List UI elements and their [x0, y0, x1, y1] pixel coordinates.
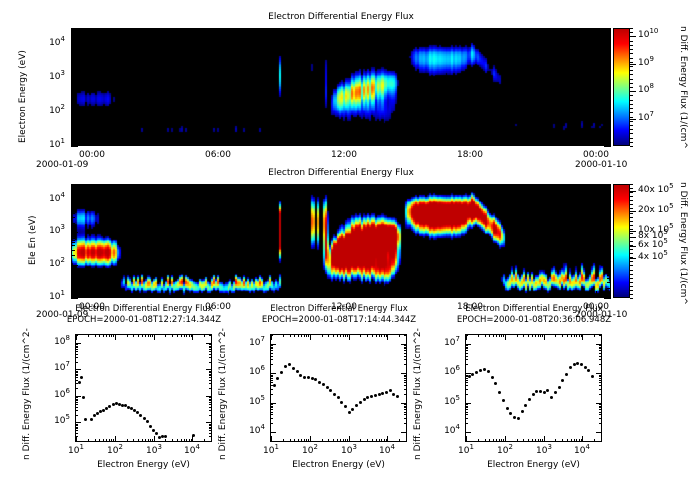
axis-tick [71, 282, 75, 283]
axis-tick [630, 87, 633, 88]
axis-tick [449, 28, 450, 32]
axis-tick [209, 380, 212, 381]
axis-tick [542, 439, 543, 442]
axis-tick [71, 120, 75, 121]
spectrum-y-tick-label: 104 [249, 426, 265, 436]
axis-tick [607, 270, 611, 271]
axis-tick [496, 334, 497, 337]
axis-tick [630, 278, 633, 279]
axis-tick [197, 142, 198, 146]
axis-tick [571, 334, 572, 337]
axis-tick [607, 240, 611, 241]
axis-tick [292, 294, 293, 298]
axis-tick [376, 439, 377, 442]
axis-tick [367, 334, 368, 337]
data-point [539, 390, 542, 393]
axis-tick [113, 334, 114, 337]
axis-tick [345, 439, 346, 442]
axis-tick [404, 389, 407, 390]
axis-tick [306, 439, 307, 442]
axis-tick [599, 353, 602, 354]
data-point [396, 395, 399, 398]
axis-tick [211, 334, 212, 337]
axis-tick [270, 347, 273, 348]
axis-tick [75, 415, 78, 416]
axis-tick [270, 412, 273, 413]
axis-tick [449, 142, 450, 146]
axis-tick [75, 402, 78, 403]
axis-tick [333, 334, 334, 337]
axis-tick [481, 28, 482, 32]
axis-tick [304, 334, 305, 337]
axis-tick [340, 439, 341, 442]
axis-tick [209, 377, 212, 378]
axis-tick [418, 294, 419, 298]
axis-tick [607, 201, 611, 202]
axis-tick [349, 334, 350, 340]
axis-tick [630, 28, 633, 29]
axis-tick [599, 380, 602, 381]
axis-tick [75, 397, 78, 398]
axis-tick [404, 382, 407, 383]
axis-tick [607, 213, 611, 214]
axis-tick [501, 439, 502, 442]
axis-tick [148, 334, 149, 337]
axis-tick [470, 184, 471, 191]
axis-tick [481, 142, 482, 146]
axis-tick [111, 334, 112, 337]
axis-tick [465, 406, 468, 407]
axis-tick [465, 345, 468, 346]
axis-tick [599, 356, 602, 357]
axis-tick [478, 439, 479, 442]
panel2-colorbar-label: n Diff. Energy Flux (1/(cm^ [678, 182, 688, 305]
axis-tick [301, 439, 302, 442]
data-point [333, 393, 336, 396]
spectrum-x-tick-label: 103 [341, 446, 357, 456]
axis-tick [465, 359, 468, 360]
axis-tick [630, 79, 633, 80]
axis-tick [103, 439, 104, 442]
axis-tick [75, 344, 78, 345]
data-point [506, 407, 509, 410]
axis-tick [71, 47, 75, 48]
axis-tick [209, 371, 212, 372]
axis-tick [75, 346, 78, 347]
axis-tick [404, 359, 407, 360]
data-point [561, 379, 564, 382]
axis-tick [103, 142, 104, 146]
axis-tick [499, 334, 500, 337]
axis-tick [71, 78, 78, 79]
axis-tick [607, 272, 611, 273]
axis-tick [465, 380, 468, 381]
spectrum-y-tick-label: 106 [444, 367, 460, 377]
axis-tick [75, 362, 78, 363]
axis-tick [75, 349, 78, 350]
axis-tick [184, 334, 185, 337]
axis-tick [630, 36, 633, 37]
axis-tick [152, 439, 153, 442]
axis-tick [599, 359, 602, 360]
axis-tick [209, 400, 212, 401]
axis-tick [404, 412, 407, 413]
axis-tick [478, 334, 479, 337]
axis-tick [562, 439, 563, 442]
data-point [479, 369, 482, 372]
axis-tick [372, 439, 373, 442]
data-point [307, 376, 310, 379]
axis-tick [599, 348, 602, 349]
axis-tick [209, 433, 212, 434]
colorbar-tick-label: 108 [638, 85, 654, 95]
axis-tick [270, 394, 273, 395]
axis-tick [310, 436, 311, 442]
axis-tick [209, 362, 212, 363]
axis-tick [599, 404, 602, 405]
colorbar-tick-label: 109 [638, 58, 654, 68]
axis-tick [540, 439, 541, 442]
axis-tick [576, 439, 577, 442]
panel1-title: Electron Differential Energy Flux [71, 12, 611, 22]
axis-tick [71, 255, 75, 256]
data-point [483, 368, 486, 371]
data-point [475, 371, 478, 374]
axis-tick [465, 376, 468, 377]
data-point [517, 417, 520, 420]
axis-tick [71, 28, 72, 32]
axis-tick [470, 139, 471, 146]
axis-tick [607, 122, 611, 123]
axis-tick [71, 136, 75, 137]
axis-tick [145, 439, 146, 442]
axis-tick [204, 334, 205, 337]
axis-tick [154, 436, 155, 442]
axis-tick [607, 117, 611, 118]
axis-tick [310, 334, 311, 340]
axis-tick [386, 142, 387, 146]
axis-tick [404, 364, 407, 365]
axis-tick [404, 380, 407, 381]
axis-tick [328, 439, 329, 442]
axis-tick [386, 334, 387, 337]
axis-tick [71, 114, 75, 115]
colorbar-tick-label: 4x 105 [638, 252, 668, 262]
axis-tick [270, 380, 273, 381]
data-point [276, 377, 279, 380]
axis-tick [71, 142, 72, 146]
axis-tick [292, 142, 293, 146]
axis-tick [270, 359, 273, 360]
data-point [392, 393, 395, 396]
spectrum-x-tick-label: 104 [379, 446, 395, 456]
data-point [329, 389, 332, 392]
data-point [355, 404, 358, 407]
axis-tick [607, 278, 611, 279]
axis-tick [576, 334, 577, 337]
axis-tick [607, 120, 611, 121]
axis-tick [596, 139, 597, 146]
axis-tick [575, 184, 576, 188]
axis-tick [372, 334, 373, 337]
axis-tick [148, 439, 149, 442]
axis-tick [485, 334, 486, 337]
axis-tick [71, 54, 75, 55]
axis-tick [76, 436, 77, 442]
axis-tick [209, 410, 212, 411]
axis-tick [505, 436, 506, 442]
data-point [381, 392, 384, 395]
axis-tick [142, 439, 143, 442]
axis-tick [630, 41, 633, 42]
data-point [359, 401, 362, 404]
axis-tick [165, 439, 166, 442]
axis-tick [71, 115, 75, 116]
colorbar-tick-label: 40x 105 [638, 185, 674, 195]
axis-tick [133, 439, 134, 442]
data-point [385, 391, 388, 394]
axis-tick [607, 250, 611, 251]
axis-tick [209, 425, 212, 426]
axis-tick [449, 294, 450, 298]
axis-tick [75, 347, 78, 348]
axis-tick [71, 81, 75, 82]
axis-tick [270, 389, 273, 390]
axis-tick [630, 91, 633, 92]
axis-tick [343, 334, 344, 337]
axis-tick [465, 350, 468, 351]
axis-tick [607, 54, 611, 55]
axis-tick [387, 334, 388, 340]
axis-tick [607, 62, 611, 63]
axis-tick [95, 439, 96, 442]
axis-tick [218, 28, 219, 35]
axis-tick [328, 334, 329, 337]
spectrum-y-tick-label: 105 [249, 397, 265, 407]
axis-tick [607, 52, 611, 53]
axis-tick [218, 291, 219, 298]
axis-tick [630, 112, 633, 113]
data-point [491, 376, 494, 379]
panel2-title: Electron Differential Energy Flux [71, 168, 611, 178]
axis-tick [308, 439, 309, 442]
axis-tick [209, 399, 212, 400]
axis-tick [71, 62, 75, 63]
axis-tick [630, 83, 633, 84]
axis-tick [270, 345, 273, 346]
axis-tick [449, 184, 450, 188]
y-tick-label: 102 [49, 259, 65, 269]
axis-tick [270, 382, 273, 383]
data-point [521, 410, 524, 413]
axis-tick [355, 294, 356, 298]
axis-tick [404, 394, 407, 395]
axis-tick [512, 28, 513, 32]
axis-tick [270, 353, 273, 354]
spectrum-y-tick-label: 108 [54, 337, 70, 347]
axis-tick [386, 184, 387, 188]
spectrum-ylabel: n Diff. Energy Flux (1/(cm^2- [22, 328, 32, 460]
axis-tick [630, 188, 633, 189]
axis-tick [192, 334, 193, 340]
axis-tick [465, 418, 468, 419]
data-point [314, 378, 317, 381]
axis-tick [607, 294, 608, 298]
axis-tick [630, 142, 633, 143]
axis-tick [607, 49, 611, 50]
axis-tick [270, 432, 276, 433]
axis-tick [630, 58, 633, 59]
axis-tick [596, 432, 602, 433]
axis-tick [209, 375, 212, 376]
axis-tick [465, 423, 468, 424]
axis-tick [294, 334, 295, 337]
axis-tick [607, 288, 611, 289]
axis-tick [75, 404, 78, 405]
axis-tick [75, 369, 81, 370]
axis-tick [582, 334, 583, 340]
y-tick-label: 101 [49, 292, 65, 302]
axis-tick [209, 428, 212, 429]
y-tick-label: 104 [49, 194, 65, 204]
spectrum-y-tick-label: 107 [444, 338, 460, 348]
axis-tick [596, 373, 602, 374]
axis-tick [134, 28, 135, 32]
axis-tick [344, 291, 345, 298]
axis-tick [604, 112, 611, 113]
axis-tick [111, 439, 112, 442]
axis-tick [71, 275, 75, 276]
colorbar-tick-label: 107 [638, 113, 654, 123]
axis-tick [596, 28, 597, 35]
axis-tick [294, 439, 295, 442]
axis-tick [92, 184, 93, 191]
axis-tick [71, 203, 75, 204]
axis-tick [209, 415, 212, 416]
axis-tick [630, 265, 633, 266]
axis-tick [599, 423, 602, 424]
data-point [340, 401, 343, 404]
data-point [143, 417, 146, 420]
axis-tick [71, 288, 75, 289]
axis-tick [71, 240, 75, 241]
y-tick-label: 101 [49, 140, 65, 150]
y-tick-label: 103 [49, 72, 65, 82]
axis-tick [404, 356, 407, 357]
axis-tick [399, 334, 400, 337]
axis-tick [523, 439, 524, 442]
axis-tick [270, 414, 273, 415]
axis-tick [604, 232, 611, 233]
colorbar-tick-label: 20x 105 [638, 205, 674, 215]
axis-tick [75, 388, 78, 389]
data-point [84, 418, 87, 421]
axis-tick [113, 439, 114, 442]
axis-tick [166, 28, 167, 32]
axis-tick [596, 184, 597, 191]
data-point [363, 398, 366, 401]
axis-tick [404, 376, 407, 377]
data-point [468, 375, 471, 378]
axis-tick [465, 382, 468, 383]
axis-tick [304, 439, 305, 442]
axis-tick [544, 28, 545, 32]
axis-tick [88, 334, 89, 337]
axis-tick [599, 375, 602, 376]
axis-tick [355, 142, 356, 146]
axis-tick [71, 58, 75, 59]
panel2-ylabel: Ele En (eV) [28, 215, 38, 265]
axis-tick [75, 380, 78, 381]
axis-tick [599, 418, 602, 419]
axis-tick [574, 334, 575, 337]
axis-tick [75, 371, 78, 372]
axis-tick [71, 130, 75, 131]
axis-tick [71, 205, 75, 206]
axis-tick [607, 203, 611, 204]
axis-tick [599, 407, 602, 408]
axis-tick [379, 439, 380, 442]
axis-tick [103, 184, 104, 188]
axis-tick [599, 378, 602, 379]
axis-tick [323, 28, 324, 32]
axis-tick [166, 184, 167, 188]
axis-tick [607, 115, 611, 116]
axis-tick [75, 377, 78, 378]
axis-tick [298, 439, 299, 442]
axis-tick [604, 298, 611, 299]
data-point [591, 375, 594, 378]
axis-tick [404, 407, 407, 408]
spectrum-xlabel: Electron Energy (eV) [487, 460, 580, 470]
axis-tick [75, 424, 78, 425]
axis-tick [607, 190, 611, 191]
axis-tick [270, 350, 273, 351]
axis-tick [499, 439, 500, 442]
axis-tick [75, 422, 81, 423]
axis-tick [493, 334, 494, 337]
x-tick-label: 06:00 [205, 150, 231, 160]
axis-tick [604, 78, 611, 79]
axis-tick [630, 200, 633, 201]
axis-tick [209, 388, 212, 389]
axis-tick [152, 334, 153, 337]
axis-tick [630, 146, 633, 147]
axis-tick [270, 423, 273, 424]
data-point [82, 396, 85, 399]
axis-tick [465, 409, 468, 410]
axis-tick [211, 439, 212, 442]
axis-tick [344, 139, 345, 146]
axis-tick [71, 34, 75, 35]
axis-tick [71, 190, 75, 191]
spectrum-y-tick-label: 106 [249, 367, 265, 377]
axis-tick [607, 210, 611, 211]
data-point [326, 386, 329, 389]
axis-tick [404, 347, 407, 348]
axis-tick [191, 439, 192, 442]
axis-tick [630, 211, 636, 212]
axis-tick [607, 83, 611, 84]
panel1-colorbar [613, 28, 630, 146]
axis-tick [630, 53, 633, 54]
axis-tick [493, 439, 494, 442]
axis-tick [465, 389, 468, 390]
axis-tick [138, 439, 139, 442]
axis-tick [260, 142, 261, 146]
axis-tick [71, 213, 75, 214]
axis-tick [630, 62, 633, 63]
